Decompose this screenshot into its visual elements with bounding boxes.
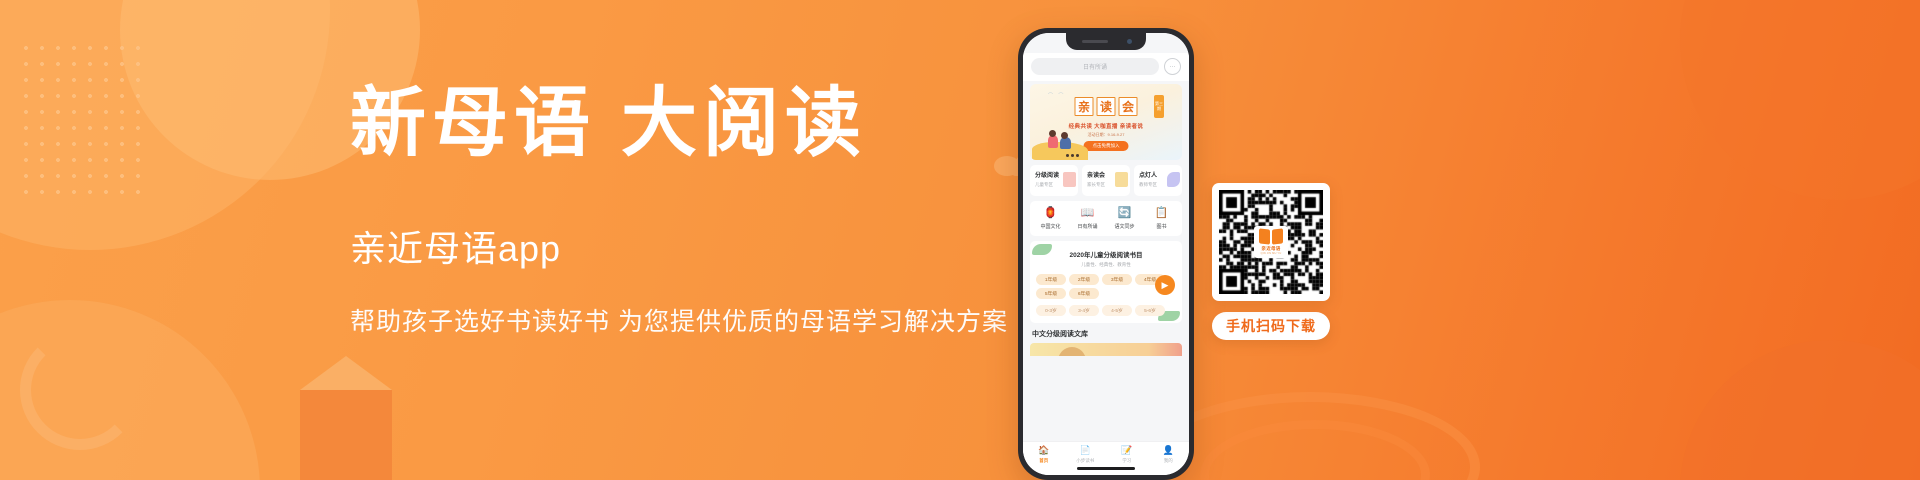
- speaker-icon: [1082, 40, 1108, 43]
- cube-decoration: [300, 390, 392, 480]
- birds-decoration: ⌒ ⌒: [1048, 92, 1065, 99]
- book-icon: [1063, 172, 1076, 187]
- search-input[interactable]: 日有所诵: [1031, 58, 1159, 75]
- category-card-graded-reading[interactable]: 分级阅读 儿童专区: [1030, 165, 1078, 196]
- download-button[interactable]: 手机扫码下载: [1212, 312, 1330, 340]
- promo-title-char: 会: [1119, 97, 1138, 116]
- grade-chip[interactable]: 3年级: [1102, 274, 1132, 285]
- promo-card[interactable]: ⌒ ⌒ 亲 读 会 第三期 经典共读 大咖直播 亲读者说 活动日期：9.16-9…: [1030, 84, 1182, 160]
- app-search-row: 日有所诵 ···: [1023, 53, 1189, 81]
- tab-label: 学习: [1106, 458, 1148, 464]
- app-screen: 日有所诵 ··· ⌒ ⌒ 亲 读 会 第三期 经典共读 大咖直播 亲读者说 活动…: [1023, 33, 1189, 475]
- play-video-icon[interactable]: ▶: [1155, 275, 1175, 295]
- tagline-text: 帮助孩子选好书读好书 为您提供优质的母语学习解决方案: [350, 302, 1010, 338]
- child-head-2: [1061, 132, 1068, 139]
- tab-label: 我的: [1148, 458, 1190, 464]
- cloud-icon: [1167, 172, 1180, 187]
- brand-logo: 亲近母语 QIN JIN MU YU: [1254, 226, 1288, 258]
- note-icon: [1115, 172, 1128, 187]
- promo-title: 亲 读 会: [1075, 97, 1138, 116]
- grade-chip[interactable]: 6年级: [1069, 288, 1099, 299]
- quick-icon-chinese-culture[interactable]: 🏮 中国文化: [1032, 208, 1069, 230]
- age-chip-grid: 0-3岁 3-4岁 4-5岁 5-6岁: [1036, 305, 1176, 316]
- reading-icon: 📄: [1065, 446, 1107, 455]
- booklist-title: 2020年儿童分级阅读书目: [1036, 249, 1176, 259]
- quick-icon-label: 图书: [1143, 223, 1180, 230]
- quick-icon-label: 中国文化: [1032, 223, 1069, 230]
- booklist-subtitle: 儿童性、经典性、教育性: [1036, 262, 1176, 268]
- open-book-icon: [1259, 229, 1283, 244]
- books-icon: 📋: [1143, 208, 1180, 219]
- swirl-decoration: [20, 330, 140, 450]
- quick-icon-label: 语文同步: [1106, 223, 1143, 230]
- booklist-section: 2020年儿童分级阅读书目 儿童性、经典性、教育性 1年级 2年级 3年级 ▶ …: [1030, 241, 1182, 323]
- library-section-title: 中文分级阅读文库: [1032, 329, 1180, 339]
- quick-icon-label: 日有所诵: [1069, 223, 1106, 230]
- grade-chip[interactable]: 1年级: [1036, 274, 1066, 285]
- age-chip[interactable]: 4-5岁: [1102, 305, 1132, 316]
- promo-banner: 新母语 大阅读 亲近母语app 帮助孩子选好书读好书 为您提供优质的母语学习解决…: [0, 0, 1920, 480]
- tab-study[interactable]: 📝 学习: [1106, 446, 1148, 464]
- child-head-1: [1049, 130, 1056, 137]
- recite-icon: 📖: [1069, 208, 1106, 219]
- library-illustration: [1058, 347, 1086, 356]
- message-icon[interactable]: ···: [1164, 58, 1181, 75]
- quick-icon-daily-recite[interactable]: 📖 日有所诵: [1069, 208, 1106, 230]
- grade-chip-grid: 1年级 2年级 3年级 ▶ 4年级 5年级 6年级: [1036, 274, 1176, 299]
- phone-mockup: 日有所诵 ··· ⌒ ⌒ 亲 读 会 第三期 经典共读 大咖直播 亲读者说 活动…: [1018, 28, 1194, 480]
- phone-notch: [1066, 33, 1146, 50]
- grade-chip[interactable]: 5年级: [1036, 288, 1066, 299]
- promo-title-char: 读: [1097, 97, 1116, 116]
- promo-title-char: 亲: [1075, 97, 1094, 116]
- culture-icon: 🏮: [1032, 208, 1069, 219]
- qr-code[interactable]: 亲近母语 QIN JIN MU YU: [1212, 183, 1330, 301]
- phone-screen-frame: 日有所诵 ··· ⌒ ⌒ 亲 读 会 第三期 经典共读 大咖直播 亲读者说 活动…: [1023, 33, 1189, 475]
- dot-grid-pattern: [18, 40, 148, 200]
- home-indicator: [1077, 467, 1135, 470]
- app-name-subtitle: 亲近母语app: [350, 220, 1010, 272]
- qr-download-block: 亲近母语 QIN JIN MU YU 手机扫码下载: [1212, 183, 1330, 340]
- age-chip[interactable]: 3-4岁: [1069, 305, 1099, 316]
- promo-badge: 第三期: [1154, 95, 1164, 118]
- category-card-lamplighter[interactable]: 点灯人 教师专区: [1134, 165, 1182, 196]
- quick-icon-books[interactable]: 📋 图书: [1143, 208, 1180, 230]
- background-arc-bottom-right: [1680, 340, 1920, 480]
- copy-block: 新母语 大阅读 亲近母语app 帮助孩子选好书读好书 为您提供优质的母语学习解决…: [350, 86, 1010, 338]
- background-arc-top-right: [1680, 0, 1920, 200]
- camera-icon: [1127, 39, 1132, 44]
- promo-cta-button[interactable]: 点击免费加入: [1084, 141, 1129, 151]
- category-card-row: 分级阅读 儿童专区 亲读会 家长专区 点灯人 教师专区: [1030, 165, 1182, 196]
- tab-label: 首页: [1023, 458, 1065, 464]
- grade-chip[interactable]: 2年级: [1069, 274, 1099, 285]
- quick-icon-textbook-sync[interactable]: 🔄 语文同步: [1106, 208, 1143, 230]
- bottom-tab-bar: 🏠 首页 📄 小步读书 📝 学习 👤 我的: [1023, 441, 1189, 475]
- profile-icon: 👤: [1148, 446, 1190, 455]
- home-icon: 🏠: [1023, 446, 1065, 455]
- carousel-dots[interactable]: [1066, 154, 1079, 157]
- brand-name-pinyin: QIN JIN MU YU: [1261, 252, 1282, 255]
- category-card-reading-club[interactable]: 亲读会 家长专区: [1082, 165, 1130, 196]
- study-icon: 📝: [1106, 446, 1148, 455]
- age-chip[interactable]: 5-6岁: [1135, 305, 1165, 316]
- tab-reading[interactable]: 📄 小步读书: [1065, 446, 1107, 464]
- tab-profile[interactable]: 👤 我的: [1148, 446, 1190, 464]
- quick-icon-row: 🏮 中国文化 📖 日有所诵 🔄 语文同步 📋 图书: [1030, 201, 1182, 236]
- sync-icon: 🔄: [1106, 208, 1143, 219]
- tab-label: 小步读书: [1065, 458, 1107, 464]
- tab-home[interactable]: 🏠 首页: [1023, 446, 1065, 464]
- page-title: 新母语 大阅读: [350, 86, 1010, 162]
- age-chip[interactable]: 0-3岁: [1036, 305, 1066, 316]
- library-banner[interactable]: [1030, 343, 1182, 356]
